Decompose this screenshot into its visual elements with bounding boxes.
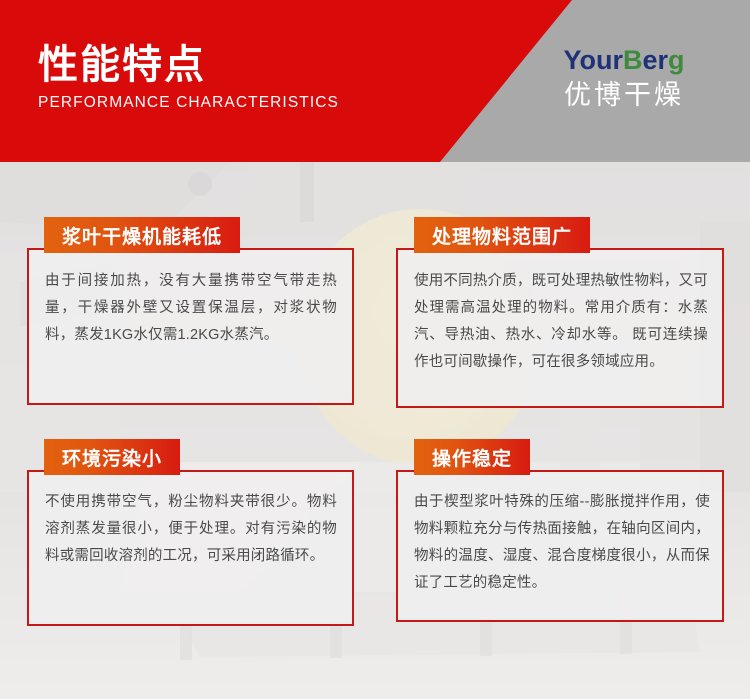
brand-wordmark-part1: Your (563, 45, 623, 75)
brand-wordmark: YourBerg (534, 45, 714, 75)
brand-logo: YourBerg 优博干燥 (534, 45, 714, 111)
brand-wordmark-part3: er (642, 45, 668, 75)
feature-title-banner-1: 浆叶干燥机能耗低 (44, 217, 240, 253)
header-title-group: 性能特点 PERFORMANCE CHARACTERISTICS (38, 42, 339, 112)
feature-body-3: 不使用携带空气，粉尘物料夹带很少。物料溶剂蒸发量很小，便于处理。对有污染的物料或… (45, 489, 337, 570)
page-title-cn: 性能特点 (38, 42, 339, 88)
page-header: 性能特点 PERFORMANCE CHARACTERISTICS YourBer… (0, 0, 750, 162)
feature-body-2: 使用不同热介质，既可处理热敏性物料，又可处理需高温处理的物料。常用介质有：水蒸汽… (414, 268, 708, 376)
feature-title-banner-3: 环境污染小 (44, 439, 180, 475)
brand-wordmark-part4: g (668, 45, 685, 75)
feature-body-1: 由于间接加热，没有大量携带空气带走热量，干燥器外壁又设置保温层，对浆状物料，蒸发… (45, 268, 337, 349)
performance-characteristics-page: 性能特点 PERFORMANCE CHARACTERISTICS YourBer… (0, 0, 750, 699)
feature-title-banner-4: 操作稳定 (414, 439, 530, 475)
feature-body-4: 由于楔型浆叶特殊的压缩--膨胀搅拌作用，使物料颗粒充分与传热面接触，在轴向区间内… (414, 489, 710, 597)
feature-title-banner-2: 处理物料范围广 (414, 217, 590, 253)
brand-name-cn: 优博干燥 (534, 79, 714, 111)
page-title-en: PERFORMANCE CHARACTERISTICS (38, 94, 339, 112)
brand-wordmark-part2: B (623, 45, 643, 75)
